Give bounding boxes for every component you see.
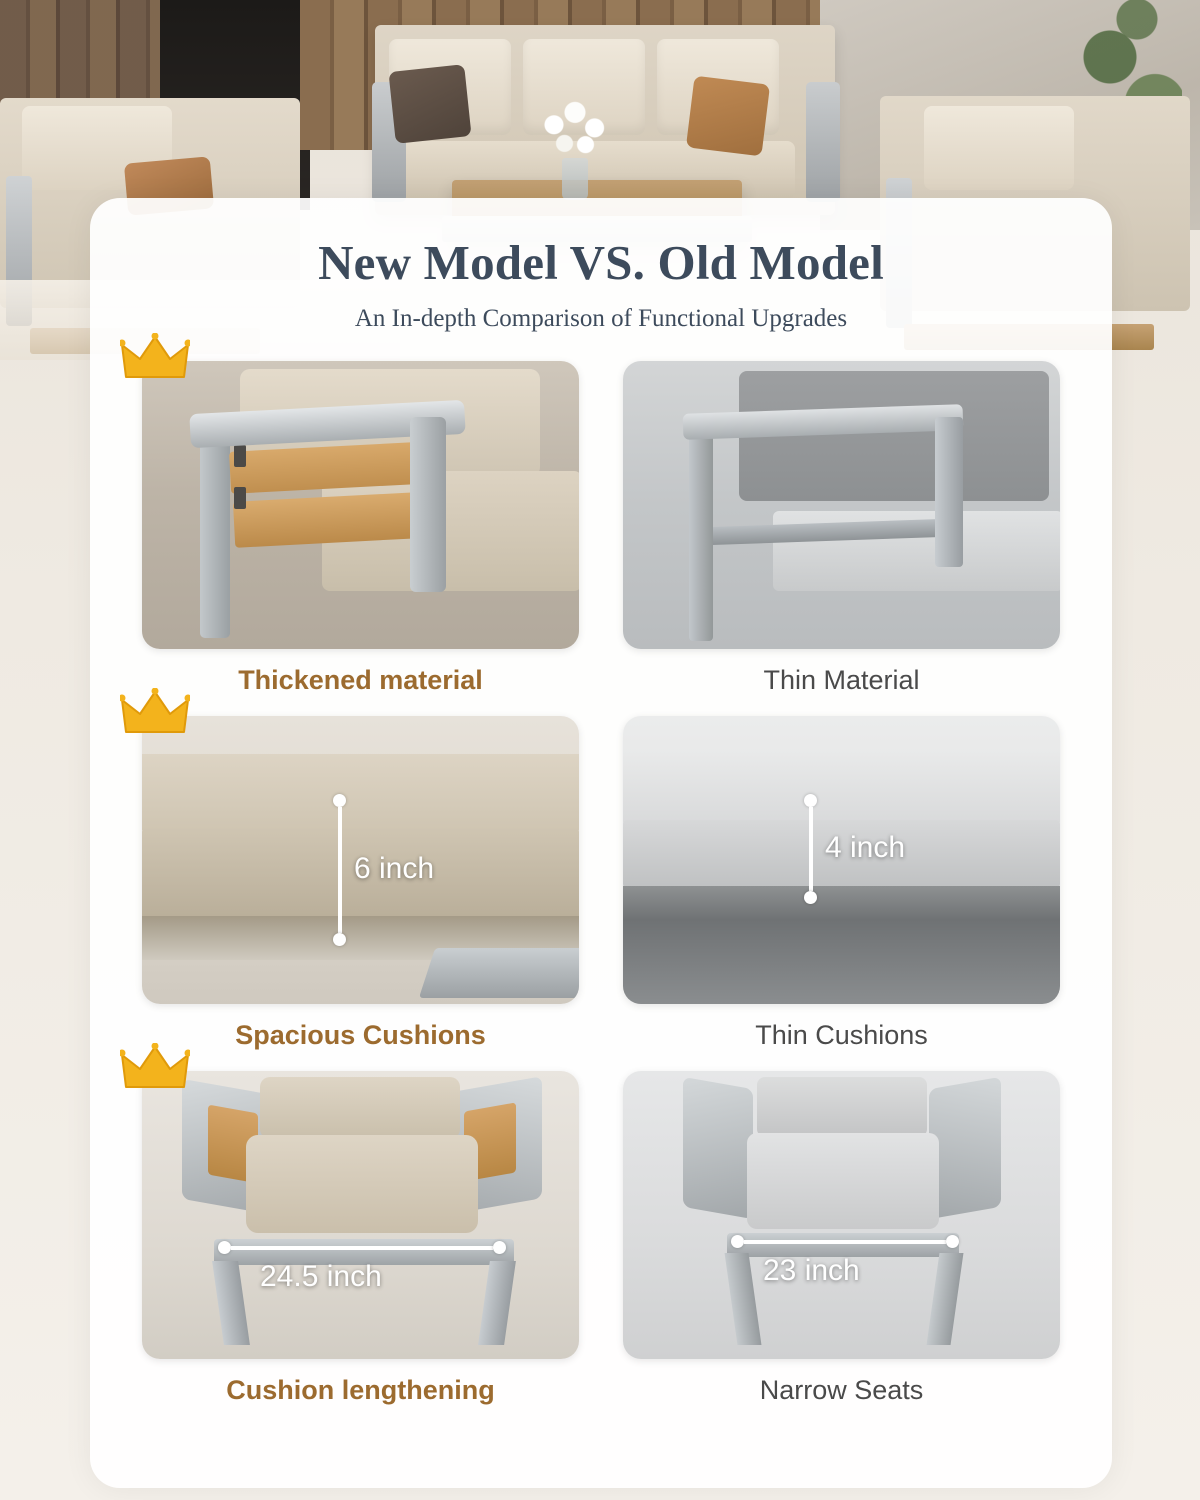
wood-slat [233,492,420,548]
tan-pillow [686,76,770,157]
photo-cushion-lengthening: 24.5 inch [142,1071,579,1359]
caption-old-model: Narrow Seats [623,1375,1060,1406]
measure-endpoint-dot [946,1235,959,1248]
leg-right [478,1261,516,1345]
measure-endpoint-dot [493,1241,506,1254]
crown-icon [120,333,190,383]
white-flowers [540,100,610,162]
measure-endpoint-dot [218,1241,231,1254]
metal-leg [419,948,579,998]
comparison-row: 24.5 inch Cushion lengthening [142,1071,1060,1426]
comparison-grid: Thickened material Thin Material [142,361,1060,1426]
comparison-panel: New Model VS. Old Model An In-depth Comp… [90,198,1112,1488]
cushion-back [757,1077,927,1137]
photo-content [142,1071,579,1359]
cushion-back [260,1077,460,1139]
measure-endpoint-dot [804,891,817,904]
page-subtitle: An In-depth Comparison of Functional Upg… [142,305,1060,333]
measure-endpoint-dot [333,794,346,807]
measure-endpoint-dot [731,1235,744,1248]
crown-icon [120,688,190,738]
frame-rail [623,886,1060,920]
leg-left [725,1253,762,1345]
arm-left [683,1077,753,1219]
cushion-top-surface [623,750,1060,822]
photo-thickened-material [142,361,579,649]
caption-old-model: Thin Material [623,665,1060,696]
frame-left [689,421,713,641]
frame-left [200,423,230,638]
cushion-seat [246,1135,478,1233]
flower-vase [540,100,610,200]
measure-endpoint-dot [333,933,346,946]
metal-hinge [234,487,246,509]
cushion-thickness-measure [333,794,346,946]
metal-hinge [234,445,246,467]
photo-thin-cushion: 4 inch [623,716,1060,1004]
vase-body [562,158,588,200]
seat-width-measure [731,1235,959,1248]
leg-left [212,1261,250,1345]
comparison-cell-new: Thickened material [142,361,579,716]
caption-new-model: Thickened material [142,665,579,696]
leg-right [927,1253,964,1345]
measure-line [744,1240,946,1244]
measure-endpoint-dot [804,794,817,807]
photo-content [142,361,579,649]
comparison-row: 6 inch Spacious Cushions [142,716,1060,1071]
cushion-seat [747,1133,939,1229]
comparison-row: Thickened material Thin Material [142,361,1060,716]
cushion-thickness-measure [804,794,817,904]
measure-line [231,1246,493,1250]
frame-right [410,417,446,592]
comparison-cell-old: 4 inch Thin Cushions [623,716,1060,1071]
brown-pillow [388,64,471,144]
measurement-label: 6 inch [354,852,434,886]
seat-width-measure [218,1241,506,1254]
photo-narrow-seat: 23 inch [623,1071,1060,1359]
caption-old-model: Thin Cushions [623,1020,1060,1051]
cushion-top-surface [142,754,579,830]
photo-thin-material [623,361,1060,649]
chair-back-cushion [924,106,1074,190]
measurement-label: 4 inch [825,831,905,865]
caption-new-model: Spacious Cushions [142,1020,579,1051]
caption-new-model: Cushion lengthening [142,1375,579,1406]
page-title: New Model VS. Old Model [142,234,1060,291]
measurement-label: 24.5 inch [260,1260,382,1294]
photo-spacious-cushion: 6 inch [142,716,579,1004]
photo-content [623,361,1060,649]
comparison-cell-old: 23 inch Narrow Seats [623,1071,1060,1426]
comparison-cell-old: Thin Material [623,361,1060,716]
crown-icon [120,1043,190,1093]
measurement-label: 23 inch [763,1254,860,1288]
comparison-cell-new: 24.5 inch Cushion lengthening [142,1071,579,1426]
sofa-arm-right [806,82,840,202]
comparison-cell-new: 6 inch Spacious Cushions [142,716,579,1071]
measure-line [809,807,813,891]
measure-line [338,807,342,933]
photo-content [623,1071,1060,1359]
frame-base [623,920,1060,1004]
arm-right [929,1077,1001,1220]
frame-right [935,417,963,567]
